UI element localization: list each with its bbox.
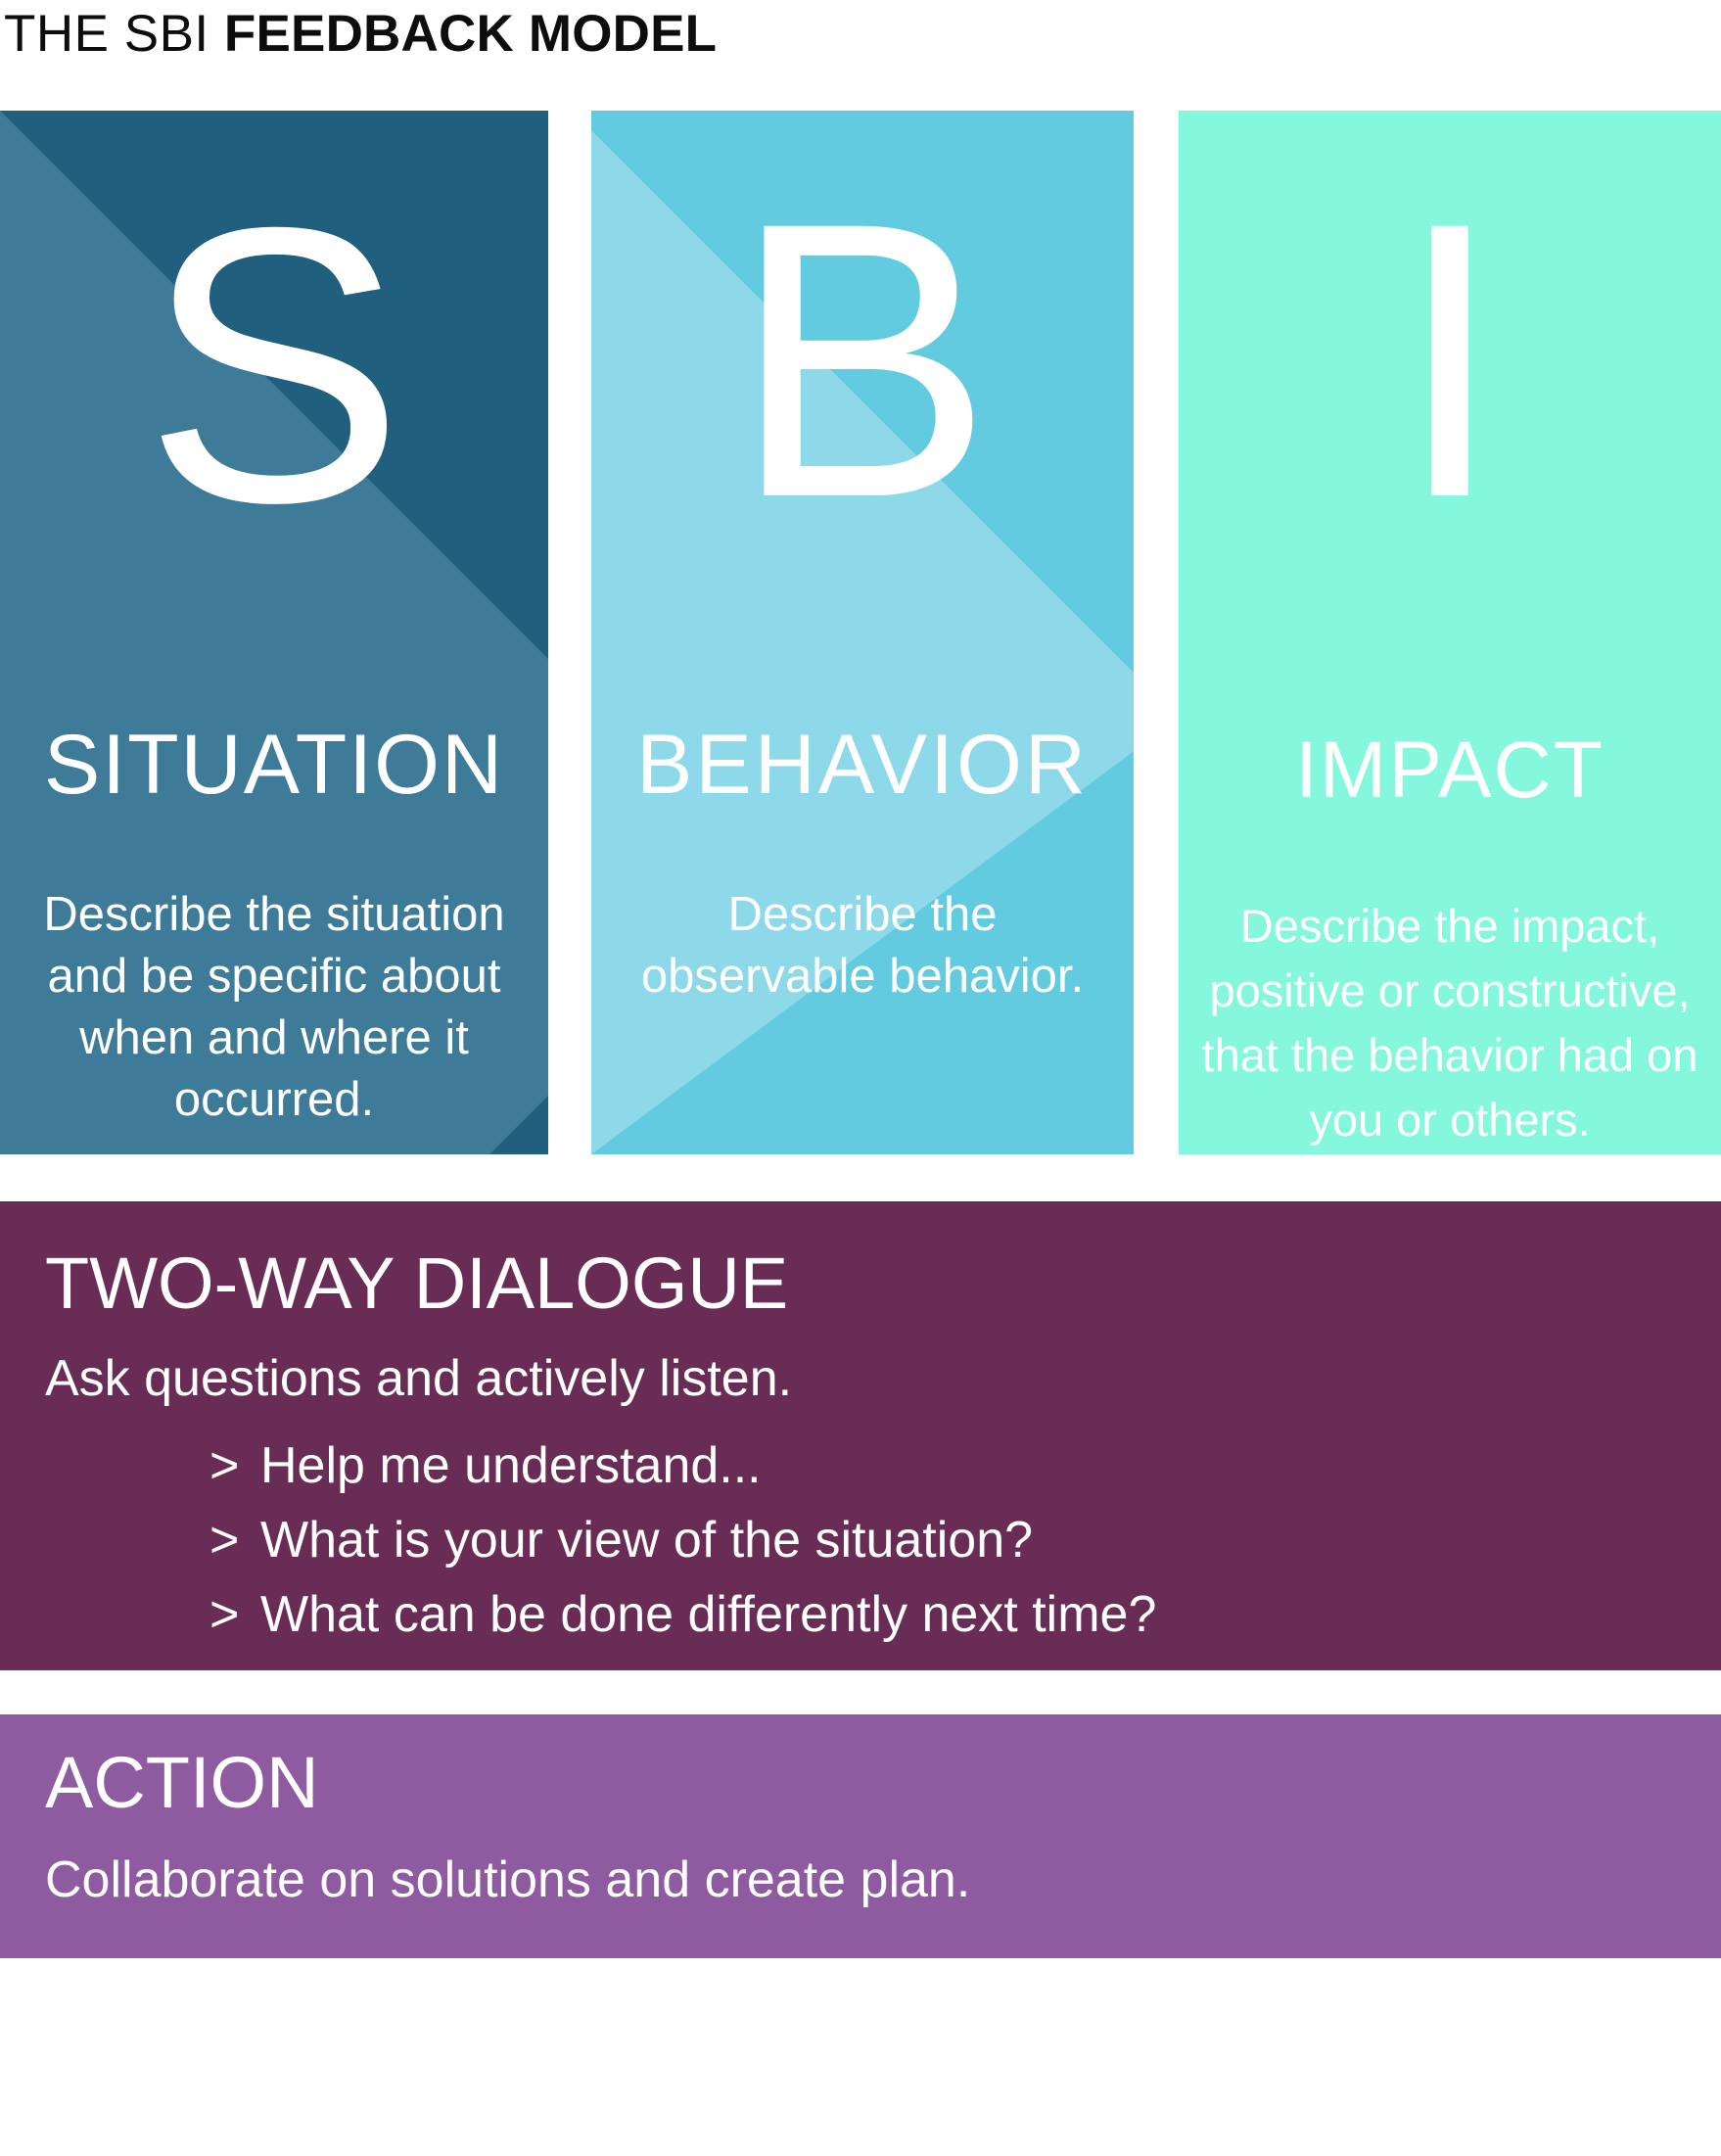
list-item-label: What is your view of the situation?	[260, 1512, 1033, 1569]
dialogue-question-list: > Help me understand... > What is your v…	[45, 1429, 1670, 1652]
list-item-label: What can be done differently next time?	[260, 1586, 1156, 1643]
card-impact-body: Describe the impact, positive or constru…	[1179, 894, 1721, 1152]
card-behavior-letter: B	[591, 164, 1134, 556]
two-way-dialogue-section: TWO-WAY DIALOGUE Ask questions and activ…	[0, 1201, 1721, 1670]
card-impact-content: I IMPACT Describe the impact, positive o…	[1179, 111, 1721, 1154]
card-behavior-body: Describe the observable behavior.	[591, 884, 1134, 1008]
card-behavior: B BEHAVIOR Describe the observable behav…	[591, 111, 1134, 1154]
list-item-label: Help me understand...	[260, 1437, 762, 1494]
sbi-card-row: S SITUATION Describe the situation and b…	[0, 111, 1721, 1154]
card-behavior-heading: BEHAVIOR	[591, 723, 1134, 807]
page-title-light: THE SBI	[4, 5, 224, 63]
page-title-bold: FEEDBACK MODEL	[224, 5, 717, 63]
chevron-right-icon: >	[209, 1577, 239, 1652]
chevron-right-icon: >	[209, 1503, 239, 1577]
list-item: > What can be done differently next time…	[45, 1577, 1670, 1652]
action-subtitle: Collaborate on solutions and create plan…	[45, 1849, 970, 1911]
list-item: > What is your view of the situation?	[45, 1503, 1670, 1577]
chevron-right-icon: >	[209, 1429, 239, 1503]
card-impact: I IMPACT Describe the impact, positive o…	[1179, 111, 1721, 1154]
dialogue-subtitle: Ask questions and actively listen.	[45, 1348, 792, 1409]
card-behavior-content: B BEHAVIOR Describe the observable behav…	[591, 111, 1134, 1154]
card-situation-letter: S	[0, 169, 548, 561]
list-item: > Help me understand...	[45, 1429, 1670, 1503]
card-situation-body: Describe the situation and be specific a…	[0, 884, 548, 1131]
page-title: THE SBI FEEDBACK MODEL	[4, 2, 1717, 67]
card-situation-heading: SITUATION	[0, 723, 548, 807]
card-impact-heading: IMPACT	[1179, 730, 1721, 811]
card-situation: S SITUATION Describe the situation and b…	[0, 111, 548, 1154]
action-section: ACTION Collaborate on solutions and crea…	[0, 1714, 1721, 1958]
card-impact-letter: I	[1179, 164, 1721, 556]
card-situation-content: S SITUATION Describe the situation and b…	[0, 111, 548, 1154]
action-title: ACTION	[45, 1742, 319, 1824]
dialogue-title: TWO-WAY DIALOGUE	[45, 1244, 788, 1323]
